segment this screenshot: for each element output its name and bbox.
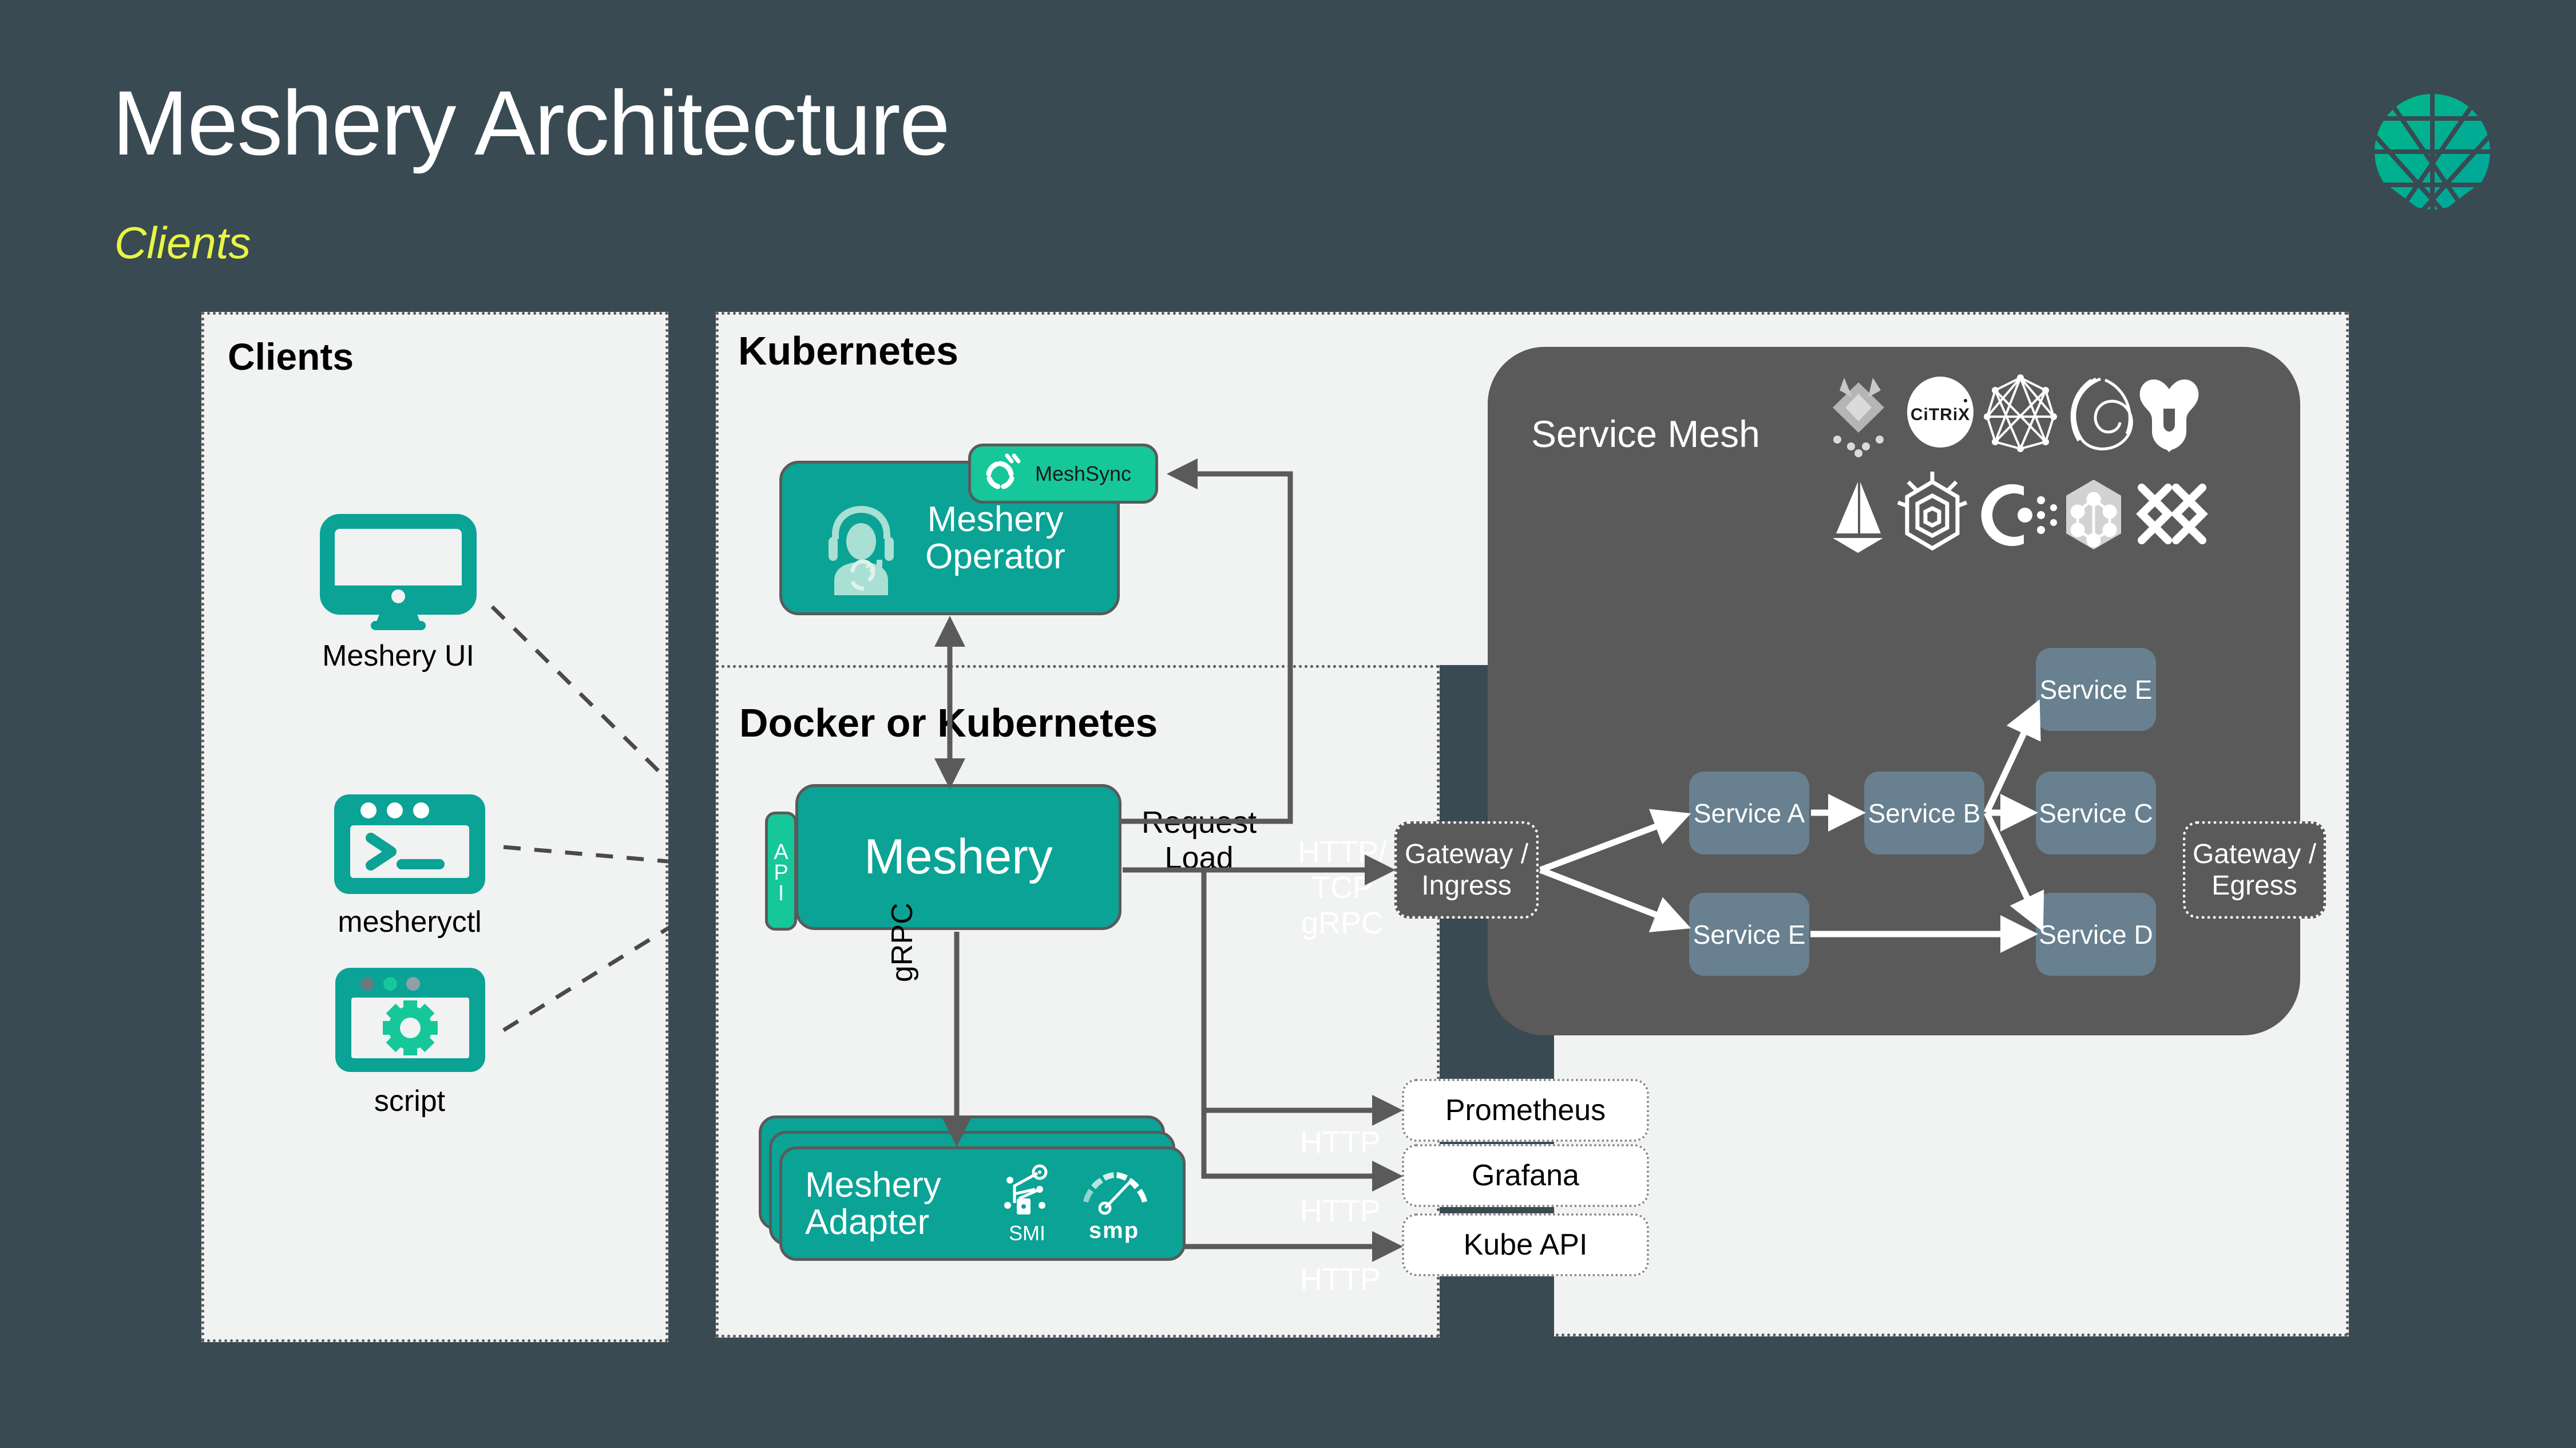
panel-title-docker-or-kubernetes: Docker or Kubernetes	[739, 703, 1158, 743]
gateway-egress-line2: Egress	[2212, 871, 2297, 901]
endpoint-grafana[interactable]: Grafana	[1402, 1144, 1649, 1207]
gateway-ingress-line2: Ingress	[1421, 871, 1511, 901]
citrix-icon: CiTRiX	[1907, 377, 1973, 448]
traefik-mesh-icon	[2142, 488, 2202, 540]
network-service-mesh-icon	[2066, 480, 2121, 549]
smi-label: SMI	[998, 1223, 1056, 1244]
smp-badge: smp	[1071, 1166, 1157, 1242]
page-title: Meshery Architecture	[112, 77, 949, 169]
endpoint-prometheus[interactable]: Prometheus	[1402, 1079, 1649, 1142]
sync-circle-icon	[980, 452, 1021, 496]
label-protocol-http-tcp-grpc: HTTP/TCPgRPC	[1298, 834, 1387, 941]
headset-operator-icon	[818, 504, 904, 595]
smi-interface-icon	[1000, 1163, 1055, 1218]
app-mesh-icon	[1833, 378, 1884, 457]
panel-gap-left	[668, 312, 716, 1342]
client-label-mesheryctl: mesheryctl	[327, 907, 492, 937]
smi-badge: SMI	[998, 1163, 1056, 1244]
meshery-api-tab[interactable]: API	[765, 812, 797, 931]
gateway-ingress-line1: Gateway /	[1405, 839, 1528, 869]
client-script[interactable]: script	[327, 963, 492, 1116]
label-http-prometheus: HTTP	[1300, 1125, 1381, 1160]
meshery-label: Meshery	[864, 831, 1053, 883]
client-label-meshery-ui: Meshery UI	[318, 641, 478, 671]
meshery-operator-line1: Meshery	[928, 500, 1064, 539]
service-box-a[interactable]: Service A	[1689, 772, 1809, 854]
terminal-prompt-icon	[327, 790, 492, 899]
linkerd-icon	[1833, 482, 1883, 553]
smp-gauge-icon	[1074, 1166, 1154, 1216]
panel-title-kubernetes: Kubernetes	[738, 331, 958, 371]
open-service-mesh-icon	[1898, 472, 1967, 548]
label-request-load: RequestLoad	[1142, 805, 1257, 876]
meshery-api-label: API	[770, 840, 792, 902]
nginx-mesh-icon	[2072, 379, 2131, 449]
gateway-egress-box[interactable]: Gateway / Egress	[2183, 821, 2326, 919]
client-label-script: script	[327, 1086, 492, 1116]
gateway-ingress-box[interactable]: Gateway / Ingress	[1394, 821, 1539, 919]
kuma-icon	[2140, 379, 2199, 452]
meshsync-label: MeshSync	[1035, 463, 1131, 485]
monitor-icon	[318, 512, 478, 632]
label-http-kube-api: HTTP	[1300, 1261, 1381, 1297]
panel-title-clients: Clients	[228, 338, 354, 375]
svg-text:CiTRiX: CiTRiX	[1911, 405, 1970, 424]
service-box-e-top[interactable]: Service E	[2036, 648, 2156, 731]
gateway-egress-line1: Gateway /	[2193, 839, 2316, 869]
page-subtitle: Clients	[114, 220, 251, 265]
service-box-d[interactable]: Service D	[2036, 893, 2156, 976]
service-mesh-logo-row: CiTRiX	[1822, 372, 2280, 561]
meshery-logo-icon	[2372, 92, 2492, 212]
endpoint-kube-api[interactable]: Kube API	[1402, 1213, 1649, 1276]
meshery-operator-line2: Operator	[925, 537, 1065, 576]
service-box-b[interactable]: Service B	[1864, 772, 1984, 854]
label-grpc: gRPC	[886, 903, 920, 982]
octarine-icon	[1981, 484, 2057, 546]
smp-label: smp	[1071, 1219, 1157, 1242]
meshery-adapter-line1: Meshery	[805, 1165, 941, 1205]
service-box-e-bottom[interactable]: Service E	[1689, 893, 1809, 976]
service-box-c[interactable]: Service C	[2036, 772, 2156, 854]
meshery-box[interactable]: Meshery	[795, 784, 1121, 930]
consul-icon	[1985, 375, 2056, 451]
gear-window-icon	[327, 963, 492, 1078]
label-http-grafana: HTTP	[1300, 1193, 1381, 1229]
meshery-adapter-line2: Adapter	[805, 1202, 929, 1242]
service-mesh-title: Service Mesh	[1531, 412, 1760, 456]
client-meshery-ui[interactable]: Meshery UI	[318, 512, 478, 671]
client-mesheryctl[interactable]: mesheryctl	[327, 790, 492, 937]
